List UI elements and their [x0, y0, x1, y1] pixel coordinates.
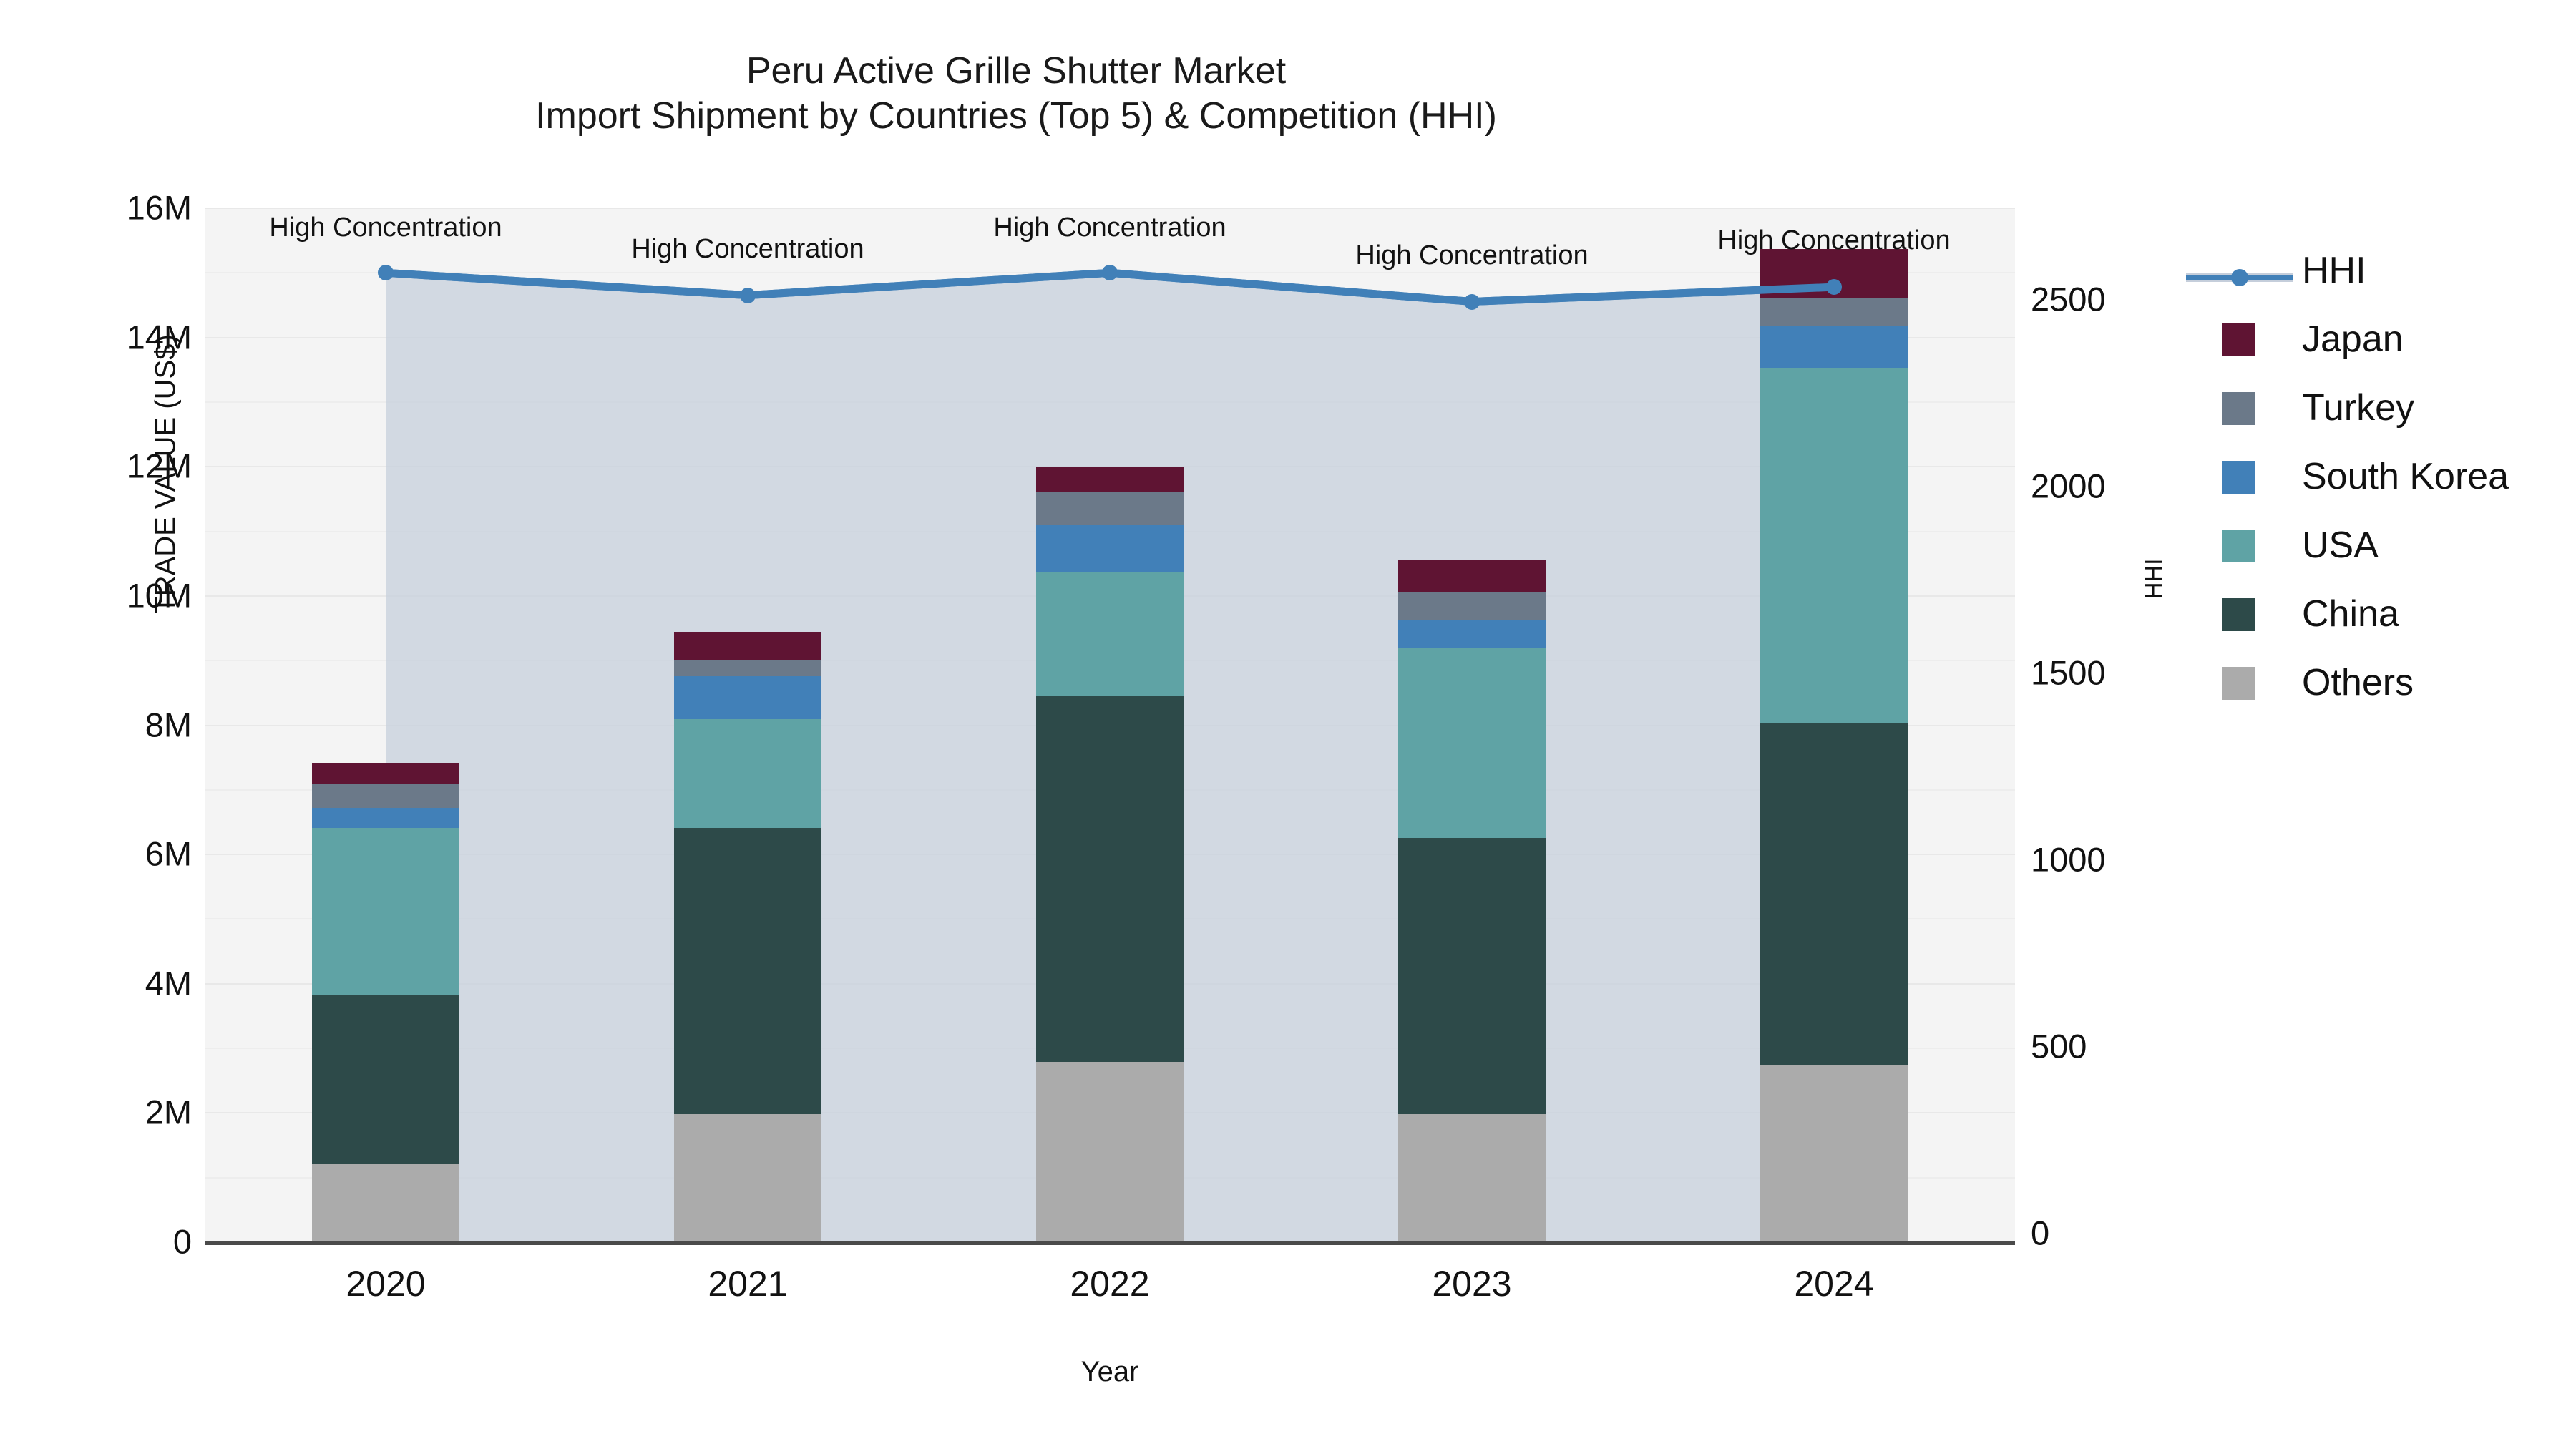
legend-item-south-korea[interactable]: South Korea — [2222, 442, 2565, 511]
x-tick-2020: 2020 — [278, 1263, 493, 1304]
legend-label: Turkey — [2302, 382, 2414, 434]
y-tick-left-6M: 6M — [0, 834, 192, 874]
annotation-high-concentration-2024: High Concentration — [1717, 225, 1950, 256]
chart-title-main: Peru Active Grille Shutter Market — [0, 49, 2032, 94]
y-tick-left-8M: 8M — [0, 705, 192, 744]
x-tick-2021: 2021 — [640, 1263, 855, 1304]
hhi-line-overlay — [205, 208, 2015, 1241]
x-tick-2022: 2022 — [1002, 1263, 1217, 1304]
legend-swatch-icon — [2222, 323, 2255, 356]
x-axis-line — [205, 1241, 2015, 1245]
legend: HHIJapanTurkeySouth KoreaUSAChinaOthers — [2222, 236, 2565, 717]
y-tick-right-1500: 1500 — [2031, 653, 2245, 693]
y-tick-right-0: 0 — [2031, 1214, 2245, 1253]
legend-swatch-icon — [2222, 461, 2255, 494]
legend-label: South Korea — [2302, 451, 2509, 502]
legend-swatch-icon — [2222, 392, 2255, 425]
legend-swatch-icon — [2222, 667, 2255, 700]
chart-canvas: Peru Active Grille Shutter Market Import… — [0, 0, 2576, 1449]
annotation-high-concentration-2020: High Concentration — [269, 213, 502, 243]
x-tick-2023: 2023 — [1365, 1263, 1579, 1304]
legend-item-china[interactable]: China — [2222, 580, 2565, 648]
y-tick-left-2M: 2M — [0, 1093, 192, 1132]
legend-label: China — [2302, 588, 2399, 640]
y-tick-right-2500: 2500 — [2031, 280, 2245, 319]
chart-title-sub: Import Shipment by Countries (Top 5) & C… — [0, 94, 2032, 139]
annotation-high-concentration-2023: High Concentration — [1355, 240, 1588, 271]
y-tick-right-500: 500 — [2031, 1027, 2245, 1066]
legend-item-usa[interactable]: USA — [2222, 511, 2565, 580]
annotation-high-concentration-2022: High Concentration — [993, 213, 1226, 243]
x-axis-title: Year — [967, 1356, 1253, 1388]
hhi-point-2024[interactable] — [1826, 279, 1842, 295]
y-tick-left-4M: 4M — [0, 963, 192, 1002]
y-tick-right-2000: 2000 — [2031, 467, 2245, 506]
hhi-point-2023[interactable] — [1464, 294, 1480, 310]
legend-label: Others — [2302, 657, 2414, 708]
hhi-point-2021[interactable] — [740, 288, 756, 303]
legend-swatch-icon — [2222, 598, 2255, 631]
y-tick-left-0: 0 — [0, 1222, 192, 1262]
y-tick-right-1000: 1000 — [2031, 840, 2245, 879]
chart-title: Peru Active Grille Shutter Market Import… — [0, 49, 2032, 140]
y-tick-left-16M: 16M — [0, 188, 192, 228]
legend-item-others[interactable]: Others — [2222, 648, 2565, 717]
x-tick-2024: 2024 — [1727, 1263, 1941, 1304]
legend-label: HHI — [2302, 245, 2366, 296]
y-axis-right-title: HHI — [2140, 450, 2167, 708]
legend-label: Japan — [2302, 313, 2404, 365]
legend-item-turkey[interactable]: Turkey — [2222, 374, 2565, 442]
legend-swatch-icon — [2222, 530, 2255, 562]
legend-label: USA — [2302, 519, 2379, 571]
y-axis-left-title: TRADE VALUE (US$) — [150, 296, 182, 653]
annotation-high-concentration-2021: High Concentration — [631, 234, 864, 265]
legend-item-hhi[interactable]: HHI — [2222, 236, 2565, 305]
legend-item-japan[interactable]: Japan — [2222, 305, 2565, 374]
